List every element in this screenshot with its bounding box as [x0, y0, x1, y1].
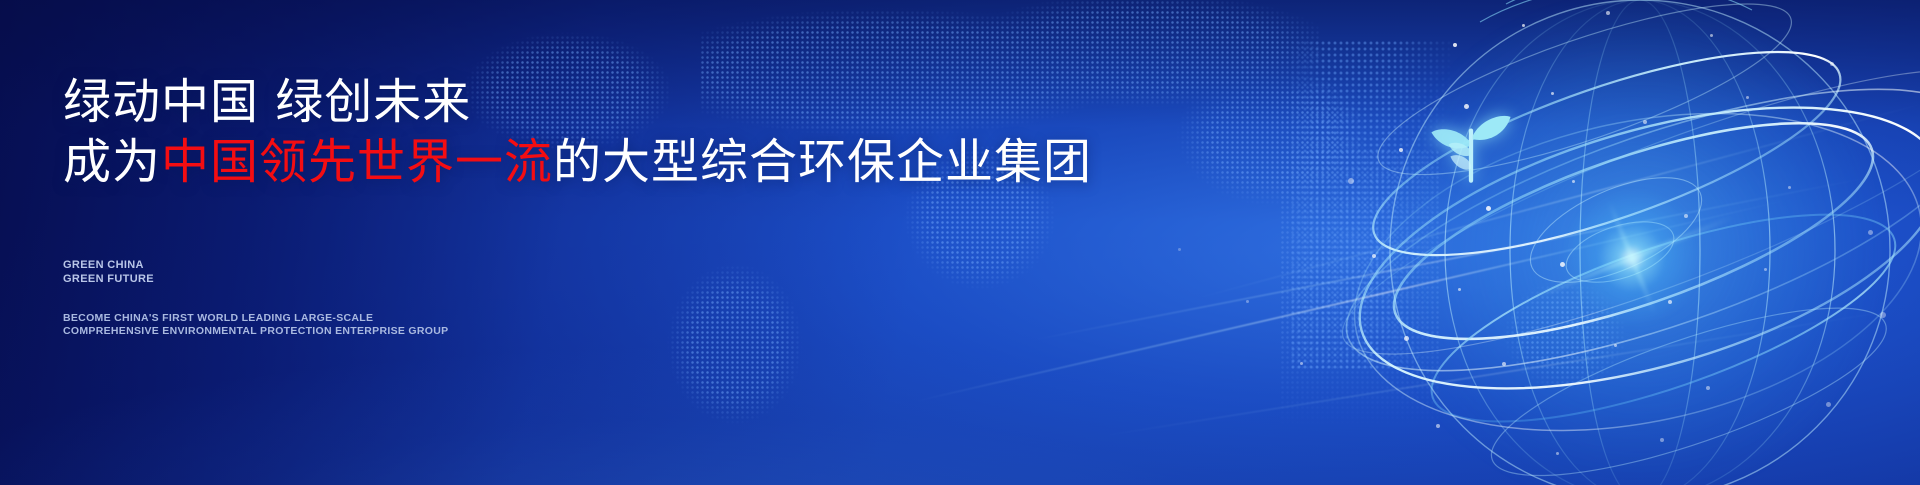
headline-line2-highlight: 中国领先世界一流 [161, 134, 553, 190]
description-english: BECOME CHINA'S FIRST WORLD LEADING LARGE… [63, 312, 448, 338]
banner-copy: 绿动中国 绿创未来 成为中国领先世界一流的大型综合环保企业集团 GREEN CH… [63, 0, 1063, 485]
hero-banner: 绿动中国 绿创未来 成为中国领先世界一流的大型综合环保企业集团 GREEN CH… [0, 0, 1920, 485]
headline-line2-suffix: 的大型综合环保企业集团 [553, 134, 1092, 190]
description-english-line-1: BECOME CHINA'S FIRST WORLD LEADING LARGE… [63, 312, 448, 325]
headline-line-1: 绿动中国 绿创未来 [63, 74, 471, 130]
headline-line2-prefix: 成为 [63, 134, 161, 190]
headline-line-2: 成为中国领先世界一流的大型综合环保企业集团 [63, 132, 1092, 192]
slogan-english-line-1: GREEN CHINA [63, 258, 154, 272]
slogan-english: GREEN CHINA GREEN FUTURE [63, 258, 154, 286]
headline: 绿动中国 绿创未来 成为中国领先世界一流的大型综合环保企业集团 [63, 72, 1092, 192]
slogan-english-line-2: GREEN FUTURE [63, 272, 154, 286]
description-english-line-2: COMPREHENSIVE ENVIRONMENTAL PROTECTION E… [63, 325, 448, 338]
